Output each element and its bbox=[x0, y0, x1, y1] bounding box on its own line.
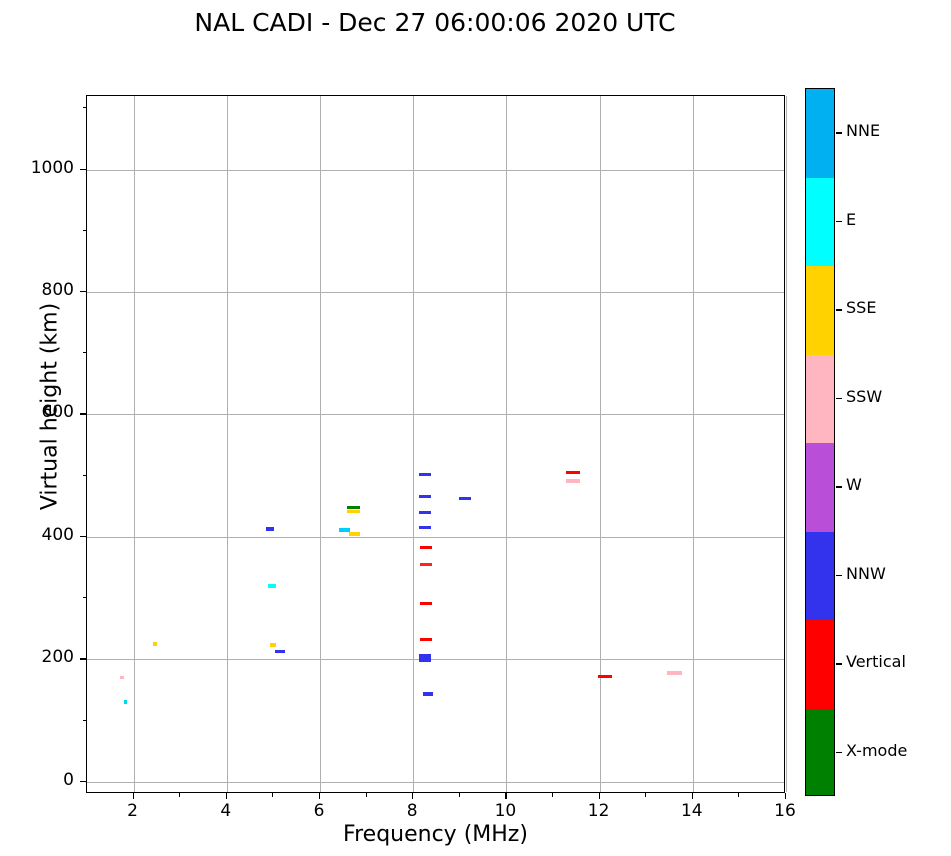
colorbar-segment-vertical[interactable] bbox=[806, 620, 834, 709]
x-tick-minor bbox=[366, 793, 367, 797]
x-tick bbox=[505, 793, 506, 799]
y-axis-label: Virtual height (km) bbox=[38, 207, 63, 607]
gridline-vertical bbox=[600, 96, 601, 792]
y-tick-minor bbox=[83, 352, 87, 353]
data-mark bbox=[153, 642, 158, 646]
data-mark bbox=[419, 658, 431, 662]
gridline-horizontal bbox=[87, 292, 784, 293]
colorbar-tick bbox=[836, 309, 842, 310]
gridline-horizontal bbox=[87, 782, 784, 783]
gridline-vertical bbox=[506, 96, 507, 792]
colorbar-segment-w[interactable] bbox=[806, 443, 834, 532]
colorbar-tick bbox=[836, 575, 842, 576]
data-mark bbox=[124, 700, 127, 704]
data-mark bbox=[266, 527, 274, 531]
colorbar-tick bbox=[836, 486, 842, 487]
data-mark bbox=[420, 638, 432, 642]
x-tick-minor bbox=[179, 793, 180, 797]
x-tick-minor bbox=[272, 793, 273, 797]
gridline-vertical bbox=[320, 96, 321, 792]
data-mark bbox=[459, 497, 471, 501]
data-mark bbox=[347, 510, 360, 514]
colorbar-segment-ssw[interactable] bbox=[806, 355, 834, 444]
gridline-horizontal bbox=[87, 414, 784, 415]
colorbar-tick bbox=[836, 398, 842, 399]
y-tick bbox=[80, 781, 86, 782]
x-tick bbox=[133, 793, 134, 799]
gridline-vertical bbox=[227, 96, 228, 792]
colorbar-label-sse: SSE bbox=[846, 298, 876, 317]
data-mark bbox=[419, 473, 431, 477]
y-tick-minor bbox=[83, 597, 87, 598]
colorbar-segment-sse[interactable] bbox=[806, 266, 834, 355]
x-tick bbox=[785, 793, 786, 799]
data-mark bbox=[270, 643, 277, 647]
y-tick-label: 0 bbox=[4, 770, 74, 790]
y-tick-label: 1000 bbox=[4, 158, 74, 178]
colorbar-label-e: E bbox=[846, 210, 856, 229]
colorbar-segment-x-mode[interactable] bbox=[806, 709, 834, 797]
colorbar-label-x-mode: X-mode bbox=[846, 741, 907, 760]
x-tick-label: 4 bbox=[196, 801, 256, 821]
colorbar-label-w: W bbox=[846, 475, 862, 494]
y-tick-minor bbox=[83, 720, 87, 721]
x-tick-minor bbox=[552, 793, 553, 797]
data-mark bbox=[349, 532, 360, 536]
y-tick bbox=[80, 413, 86, 414]
data-mark bbox=[423, 692, 433, 696]
data-mark bbox=[419, 511, 431, 515]
colorbar-label-ssw: SSW bbox=[846, 387, 882, 406]
y-tick-minor bbox=[83, 107, 87, 108]
x-tick-label: 14 bbox=[662, 801, 722, 821]
data-mark bbox=[667, 671, 682, 675]
colorbar-tick bbox=[836, 221, 842, 222]
y-tick bbox=[80, 169, 86, 170]
x-tick bbox=[599, 793, 600, 799]
x-tick-minor bbox=[738, 793, 739, 797]
data-mark bbox=[420, 563, 432, 567]
plot-area[interactable] bbox=[86, 95, 785, 793]
y-tick-minor bbox=[83, 475, 87, 476]
x-tick-label: 2 bbox=[103, 801, 163, 821]
data-mark bbox=[419, 526, 431, 530]
x-tick bbox=[412, 793, 413, 799]
x-tick bbox=[226, 793, 227, 799]
colorbar-tick bbox=[836, 132, 842, 133]
x-tick-label: 16 bbox=[755, 801, 815, 821]
data-mark bbox=[566, 471, 580, 475]
page-title: NAL CADI - Dec 27 06:00:06 2020 UTC bbox=[0, 8, 870, 37]
gridline-vertical bbox=[786, 96, 787, 792]
gridline-horizontal bbox=[87, 170, 784, 171]
data-mark bbox=[420, 602, 432, 606]
gridline-vertical bbox=[134, 96, 135, 792]
gridline-horizontal bbox=[87, 537, 784, 538]
x-tick-label: 6 bbox=[289, 801, 349, 821]
data-mark bbox=[420, 546, 432, 550]
data-mark bbox=[268, 584, 276, 588]
x-tick-label: 12 bbox=[569, 801, 629, 821]
x-tick-minor bbox=[645, 793, 646, 797]
x-tick bbox=[692, 793, 693, 799]
data-mark bbox=[419, 495, 431, 499]
y-tick bbox=[80, 658, 86, 659]
colorbar-segment-nnw[interactable] bbox=[806, 532, 834, 621]
azimuth-colorbar[interactable] bbox=[805, 88, 835, 796]
colorbar-segment-nne[interactable] bbox=[806, 89, 834, 178]
x-tick-label: 10 bbox=[475, 801, 535, 821]
ionogram-figure: NAL CADI - Dec 27 06:00:06 2020 UTC 2468… bbox=[0, 0, 951, 856]
data-mark bbox=[347, 506, 360, 510]
gridline-vertical bbox=[413, 96, 414, 792]
x-axis-label: Frequency (MHz) bbox=[86, 822, 785, 847]
gridline-horizontal bbox=[87, 659, 784, 660]
colorbar-segment-e[interactable] bbox=[806, 178, 834, 267]
data-mark bbox=[275, 650, 284, 654]
data-mark bbox=[120, 676, 125, 680]
x-tick-label: 8 bbox=[382, 801, 442, 821]
x-tick-minor bbox=[459, 793, 460, 797]
colorbar-label-vertical: Vertical bbox=[846, 652, 906, 671]
y-tick-minor bbox=[83, 230, 87, 231]
colorbar-label-nne: NNE bbox=[846, 121, 880, 140]
data-mark bbox=[566, 479, 580, 483]
y-tick bbox=[80, 291, 86, 292]
colorbar-tick bbox=[836, 752, 842, 753]
gridline-vertical bbox=[693, 96, 694, 792]
y-tick bbox=[80, 536, 86, 537]
data-mark bbox=[598, 675, 612, 679]
y-tick-label: 200 bbox=[4, 647, 74, 667]
x-tick bbox=[319, 793, 320, 799]
colorbar-label-nnw: NNW bbox=[846, 564, 886, 583]
colorbar-tick bbox=[836, 663, 842, 664]
